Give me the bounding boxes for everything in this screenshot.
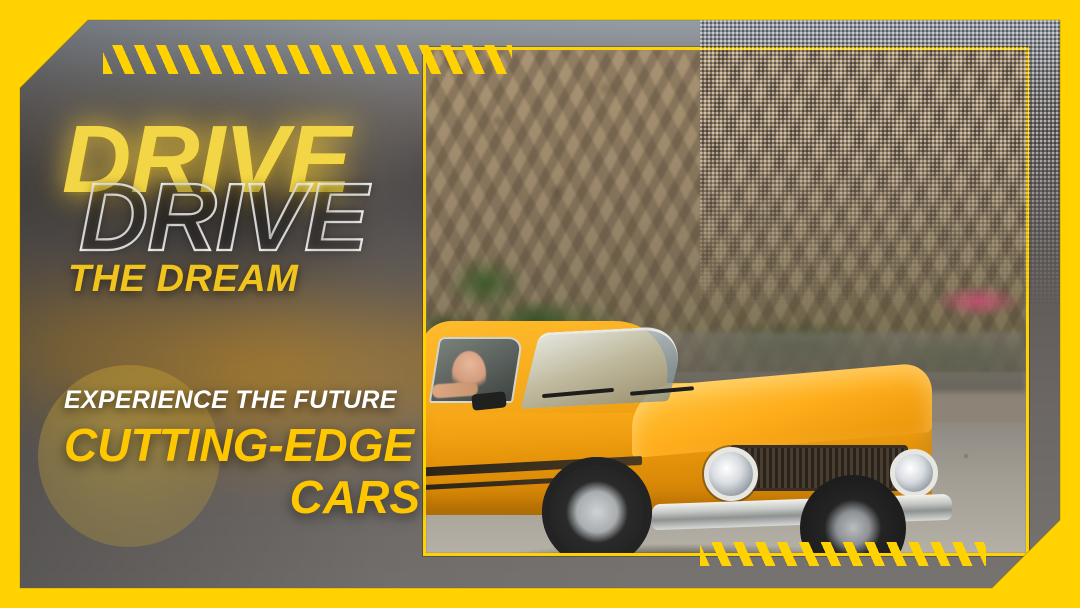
title-stack: DRIVE DRIVE (62, 112, 422, 262)
title-drive-outline: DRIVE (79, 170, 367, 266)
classic-car-illustration (426, 263, 972, 553)
headlight-near (704, 447, 758, 501)
promo-headline-line1: CUTTING-EDGE (64, 422, 420, 468)
title-subtitle: THE DREAM (68, 258, 298, 301)
hero-photo (426, 50, 1026, 553)
hazard-stripes-bottom (700, 542, 986, 566)
headlight-far (890, 449, 938, 497)
promo-headline-line2: CARS (64, 474, 420, 520)
promo-kicker: EXPERIENCE THE FUTURE (64, 386, 420, 415)
hero-photo-panel (423, 47, 1029, 556)
text-column: DRIVE DRIVE THE DREAM EXPERIENCE THE FUT… (0, 0, 424, 608)
banner-canvas: DRIVE DRIVE THE DREAM EXPERIENCE THE FUT… (0, 0, 1080, 608)
